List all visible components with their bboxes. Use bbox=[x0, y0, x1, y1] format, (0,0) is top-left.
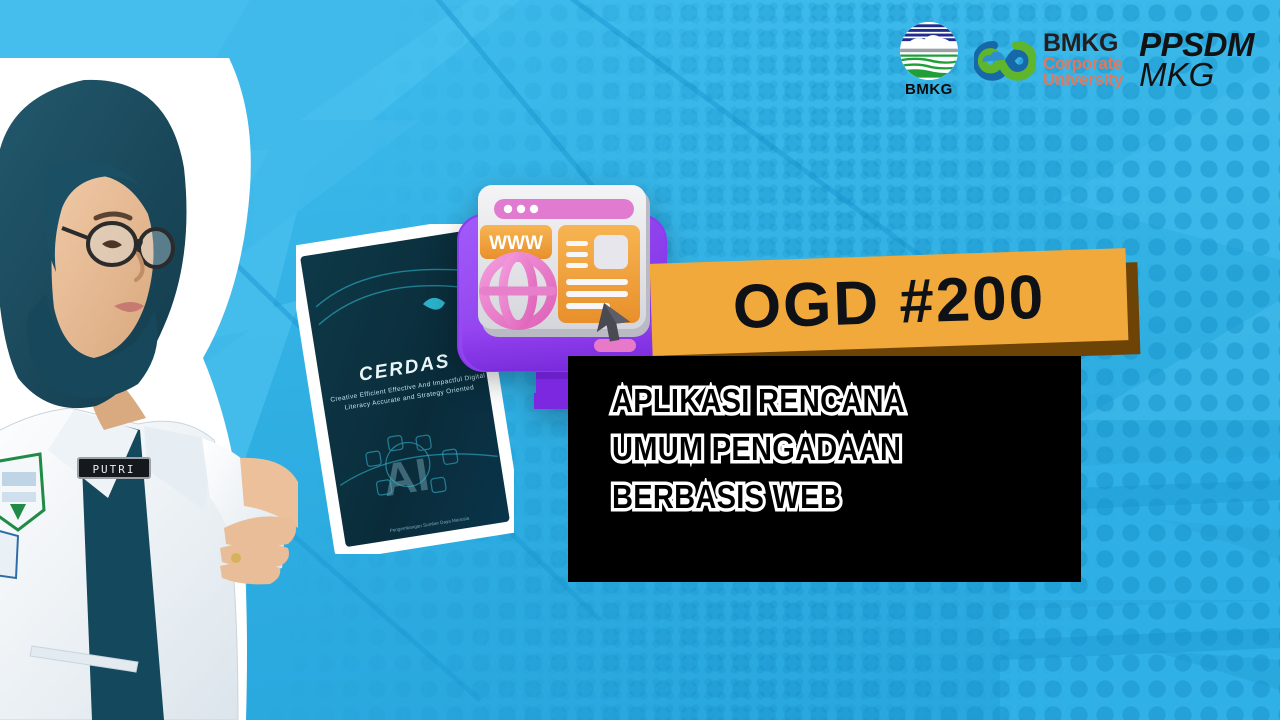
thumbnail-canvas: BMKG BMKG Corporate University PPSDM MKG bbox=[0, 0, 1280, 720]
bmkg-corporate-university-logo: BMKG Corporate University bbox=[974, 31, 1123, 89]
bmkg-seal-caption: BMKG bbox=[905, 81, 953, 98]
episode-banner-label: OGD #200 bbox=[732, 261, 1047, 342]
corporate-university-wordmark: BMKG Corporate University bbox=[1043, 31, 1123, 89]
episode-banner: OGD #200 bbox=[651, 256, 1131, 372]
www-badge-label: WWW bbox=[489, 233, 543, 254]
logo-bar: BMKG BMKG Corporate University PPSDM MKG bbox=[900, 22, 1254, 98]
ppsdm-mkg-logo: PPSDM MKG bbox=[1139, 30, 1254, 91]
ppsdm-line-2: MKG bbox=[1139, 60, 1254, 90]
bmkg-seal-logo: BMKG bbox=[900, 22, 958, 98]
episode-banner-plate: OGD #200 bbox=[650, 248, 1129, 356]
title-lines: APLIKASI RENCANA UMUM PENGADAAN BERBASIS… bbox=[612, 384, 1067, 515]
infinity-cloud-icon bbox=[974, 35, 1036, 85]
presenter-photo: PUTRI bbox=[0, 58, 298, 720]
title-line-2: UMUM PENGADAAN bbox=[612, 432, 1012, 467]
presenter-name-tag: PUTRI bbox=[92, 463, 135, 476]
title-line-3: BERBASIS WEB bbox=[612, 480, 1012, 515]
title-line-1: APLIKASI RENCANA bbox=[612, 384, 1012, 419]
cu-line-3: University bbox=[1043, 72, 1123, 89]
bmkg-seal-icon bbox=[900, 22, 958, 80]
cu-line-1: BMKG bbox=[1043, 31, 1123, 56]
title-box: APLIKASI RENCANA UMUM PENGADAAN BERBASIS… bbox=[568, 356, 1081, 582]
